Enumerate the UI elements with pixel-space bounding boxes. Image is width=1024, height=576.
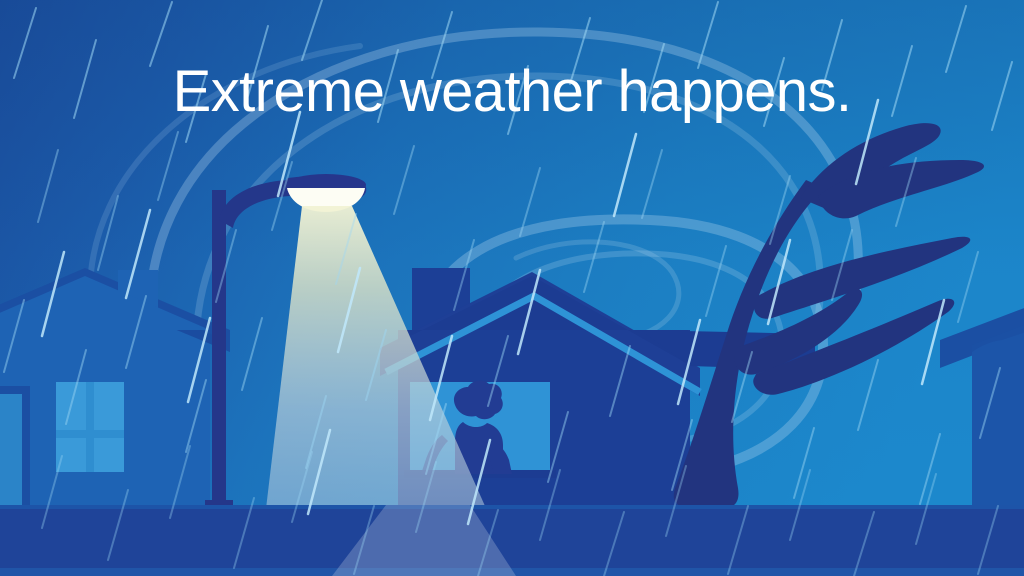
weather-illustration-scene: Extreme weather happens. [0, 0, 1024, 576]
rain [0, 0, 1024, 576]
